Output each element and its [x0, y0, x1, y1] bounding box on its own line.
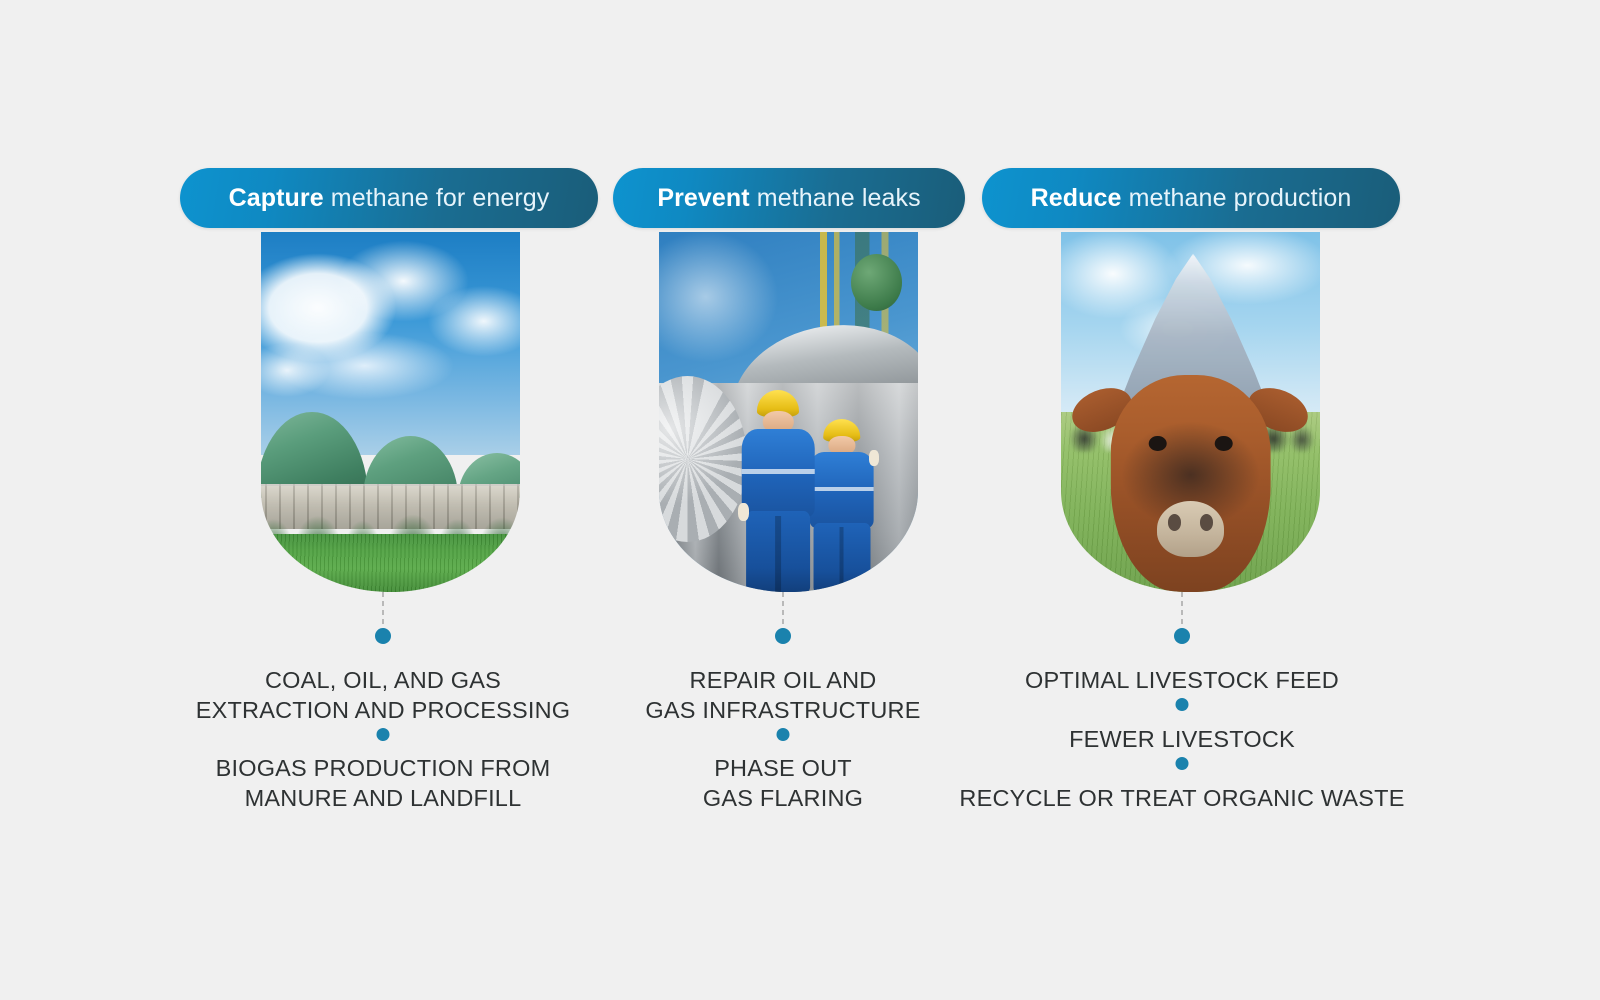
worker-torso — [809, 452, 874, 528]
label-reduce-2: RECYCLE OR TREAT ORGANIC WASTE — [922, 783, 1442, 813]
header-pill-reduce[interactable]: Reduce methane production — [982, 168, 1400, 228]
header-pill-reduce-rest: methane production — [1122, 184, 1352, 212]
header-pill-prevent-text: Prevent methane leaks — [657, 184, 920, 213]
worker-legs — [813, 523, 870, 592]
worker-figure — [742, 390, 815, 592]
bullet-dot — [1174, 628, 1190, 644]
header-pill-prevent[interactable]: Prevent methane leaks — [613, 168, 965, 228]
label-prevent-0: REPAIR OIL AND GAS INFRASTRUCTURE — [603, 665, 963, 725]
bullet-dot — [375, 628, 391, 644]
biogas-plant-scene — [261, 232, 520, 592]
glove-icon — [738, 503, 750, 521]
connector-line-reduce — [1181, 592, 1183, 630]
hi-vis-stripe — [809, 487, 874, 491]
hi-vis-stripe — [742, 469, 815, 473]
bullet-dot — [1176, 757, 1189, 770]
pasture-cow-scene — [1061, 232, 1320, 592]
refinery-workers-photo — [659, 232, 918, 592]
cow-nostril — [1168, 514, 1181, 531]
header-pill-reduce-text: Reduce methane production — [1031, 184, 1352, 213]
bullet-dot — [377, 728, 390, 741]
cow-figure — [1061, 340, 1320, 592]
header-pill-capture[interactable]: Capture methane for energy — [180, 168, 598, 228]
refinery-workers-scene — [659, 232, 918, 592]
label-reduce-0: OPTIMAL LIVESTOCK FEED — [942, 665, 1422, 695]
worker-torso — [742, 429, 815, 518]
label-prevent-1: PHASE OUT GAS FLARING — [603, 753, 963, 813]
header-pill-prevent-emphasis: Prevent — [657, 184, 749, 212]
bullet-dot — [775, 628, 791, 644]
label-capture-0: COAL, OIL, AND GAS EXTRACTION AND PROCES… — [173, 665, 593, 725]
biogas-plant-photo — [261, 232, 520, 592]
label-reduce-1: FEWER LIVESTOCK — [942, 724, 1422, 754]
grass-field — [261, 534, 520, 592]
bullet-dot — [1176, 698, 1189, 711]
connector-line-prevent — [782, 592, 784, 630]
connector-line-capture — [382, 592, 384, 630]
worker-legs — [746, 511, 810, 592]
header-pill-capture-emphasis: Capture — [229, 184, 324, 212]
cow-eye — [1215, 436, 1233, 451]
header-pill-capture-text: Capture methane for energy — [229, 184, 550, 213]
header-pill-capture-rest: methane for energy — [324, 184, 550, 212]
methane-mitigation-infographic: Capture methane for energy COAL, OIL, AN… — [0, 0, 1600, 1000]
cow-muzzle — [1157, 501, 1224, 557]
cow-head — [1110, 375, 1271, 592]
worker-figure — [809, 419, 874, 592]
cow-eye — [1149, 436, 1167, 451]
header-pill-reduce-emphasis: Reduce — [1031, 184, 1122, 212]
cow-nostril — [1200, 514, 1213, 531]
glove-icon — [869, 450, 879, 466]
header-pill-prevent-rest: methane leaks — [750, 184, 921, 212]
bullet-dot — [777, 728, 790, 741]
pasture-cow-photo — [1061, 232, 1320, 592]
label-capture-1: BIOGAS PRODUCTION FROM MANURE AND LANDFI… — [173, 753, 593, 813]
